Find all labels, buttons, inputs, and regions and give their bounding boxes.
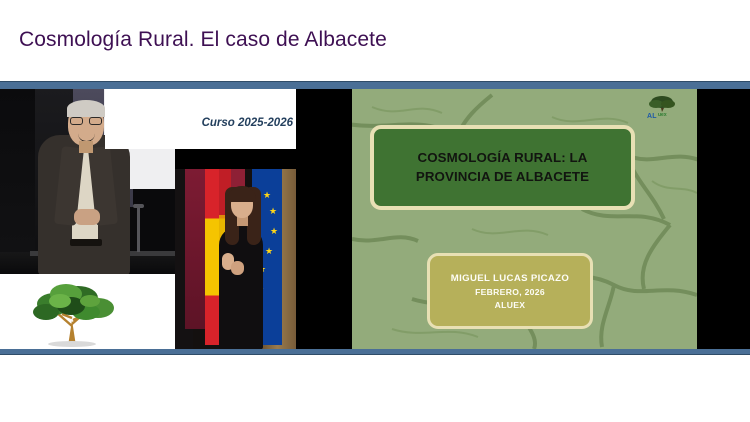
slide-author-name: MIGUEL LUCAS PICAZO bbox=[451, 273, 569, 284]
sign-language-interpreter-feed[interactable]: ★ ★ ★ ★ ★ ★ bbox=[175, 169, 296, 349]
eu-star: ★ bbox=[269, 207, 277, 216]
interpreter-torso bbox=[219, 227, 263, 349]
slide-logo-uex: uex bbox=[658, 112, 667, 118]
course-year-text: Curso 2025-2026 bbox=[202, 117, 293, 129]
course-slide-panel[interactable]: Curso 2025-2026 bbox=[105, 89, 305, 149]
slide-logo-al: AL bbox=[647, 113, 657, 120]
microphone-head bbox=[133, 204, 144, 208]
slide-date: FEBRERO, 2026 bbox=[475, 287, 545, 297]
speaker-glasses-right bbox=[89, 117, 102, 125]
flag-maroon bbox=[185, 169, 207, 329]
slide-author-box: MIGUEL LUCAS PICAZO FEBRERO, 2026 ALUEX bbox=[427, 253, 593, 329]
presentation-screenshot: Cosmología Rural. El caso de Albacete bbox=[0, 0, 750, 422]
page-title: Cosmología Rural. El caso de Albacete bbox=[19, 28, 387, 52]
video-composite-area[interactable]: Curso 2025-2026 bbox=[0, 89, 750, 349]
tree-icon bbox=[645, 95, 679, 113]
interpreter-hand-right bbox=[231, 261, 244, 275]
slide-title-text: COSMOLOGÍA RURAL: LA PROVINCIA DE ALBACE… bbox=[390, 149, 615, 187]
eu-star: ★ bbox=[270, 227, 278, 236]
header-bar: Cosmología Rural. El caso de Albacete bbox=[0, 0, 750, 80]
eu-star: ★ bbox=[265, 247, 273, 256]
slide-organization: ALUEX bbox=[495, 300, 526, 310]
slide-right-filler bbox=[697, 89, 750, 349]
slide-title-box: COSMOLOGÍA RURAL: LA PROVINCIA DE ALBACE… bbox=[370, 125, 635, 210]
tree-illustration-panel[interactable] bbox=[0, 274, 175, 349]
tree-icon bbox=[16, 276, 136, 348]
feed-gap-filler bbox=[296, 89, 352, 349]
speaker-glasses-left bbox=[70, 117, 83, 125]
speaker-hair bbox=[67, 100, 105, 117]
speaker-belt bbox=[70, 239, 102, 246]
presentation-slide[interactable]: AL uex COSMOLOGÍA RURAL: LA PROVINCIA DE… bbox=[352, 89, 697, 349]
video-stage-frame: Curso 2025-2026 bbox=[0, 81, 750, 355]
footer-bar: Miguel Lucas Picazo Historiador y Antrop… bbox=[0, 356, 750, 422]
speaker-hands bbox=[74, 209, 100, 225]
slide-aluex-logo: AL uex bbox=[645, 95, 679, 125]
microphone-stand bbox=[137, 204, 140, 252]
speaker-neck bbox=[79, 141, 93, 153]
stage-wall-left bbox=[0, 89, 35, 274]
eu-star: ★ bbox=[263, 191, 271, 200]
